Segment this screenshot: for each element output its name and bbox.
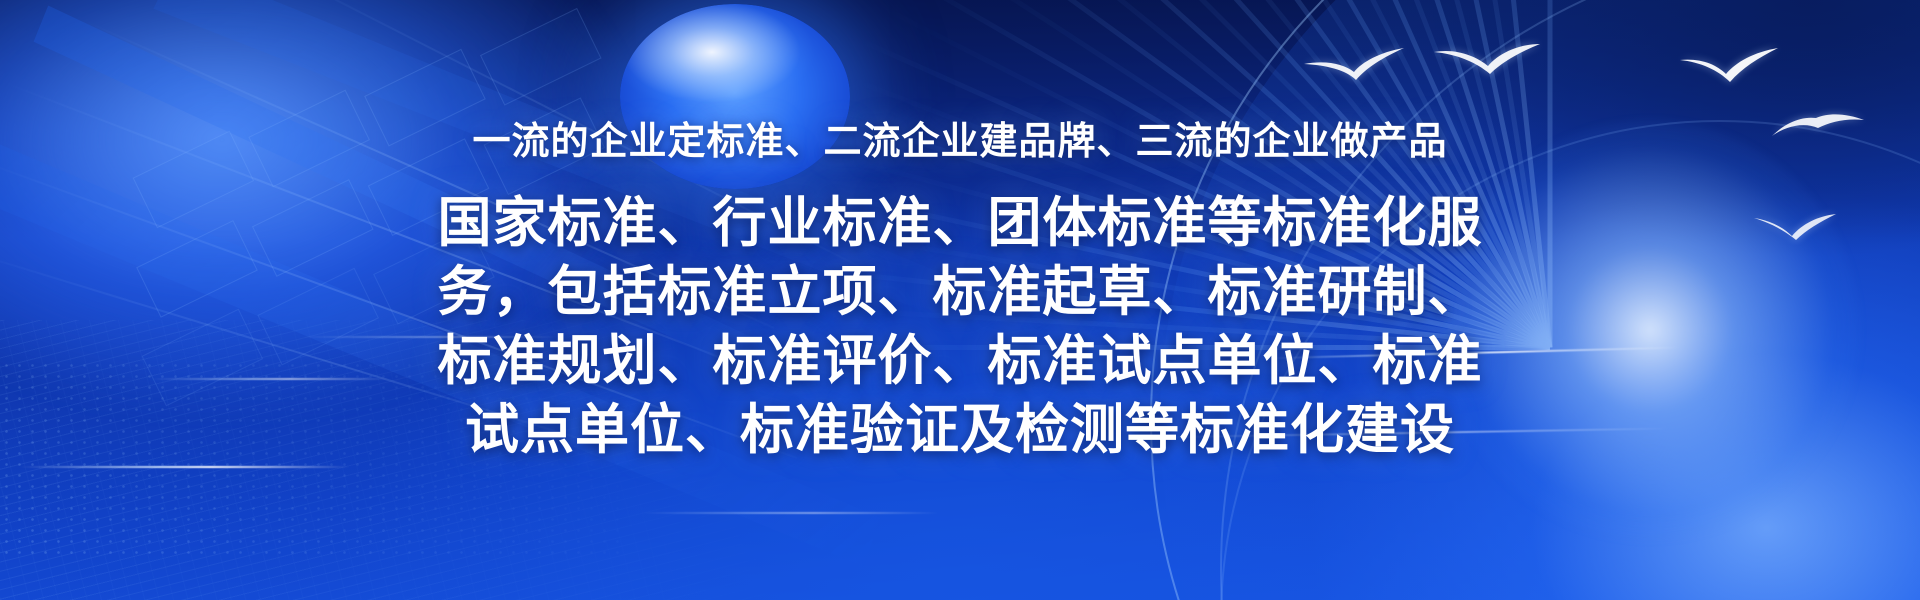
banner-content: 一流的企业定标准、二流企业建品牌、三流的企业做产品 国家标准、行业标准、团体标准… [0,0,1920,464]
banner-body: 国家标准、行业标准、团体标准等标准化服 务，包括标准立项、标准起草、标准研制、 … [430,188,1490,464]
banner-body-line: 国家标准、行业标准、团体标准等标准化服 [430,188,1490,257]
banner-body-line: 标准规划、标准评价、标准试点单位、标准 [430,326,1490,395]
banner-body-line: 试点单位、标准验证及检测等标准化建设 [430,395,1490,464]
banner-headline: 一流的企业定标准、二流企业建品牌、三流的企业做产品 [0,118,1920,166]
banner-body-line: 务，包括标准立项、标准起草、标准研制、 [430,257,1490,326]
promo-banner: 一流的企业定标准、二流企业建品牌、三流的企业做产品 国家标准、行业标准、团体标准… [0,0,1920,600]
